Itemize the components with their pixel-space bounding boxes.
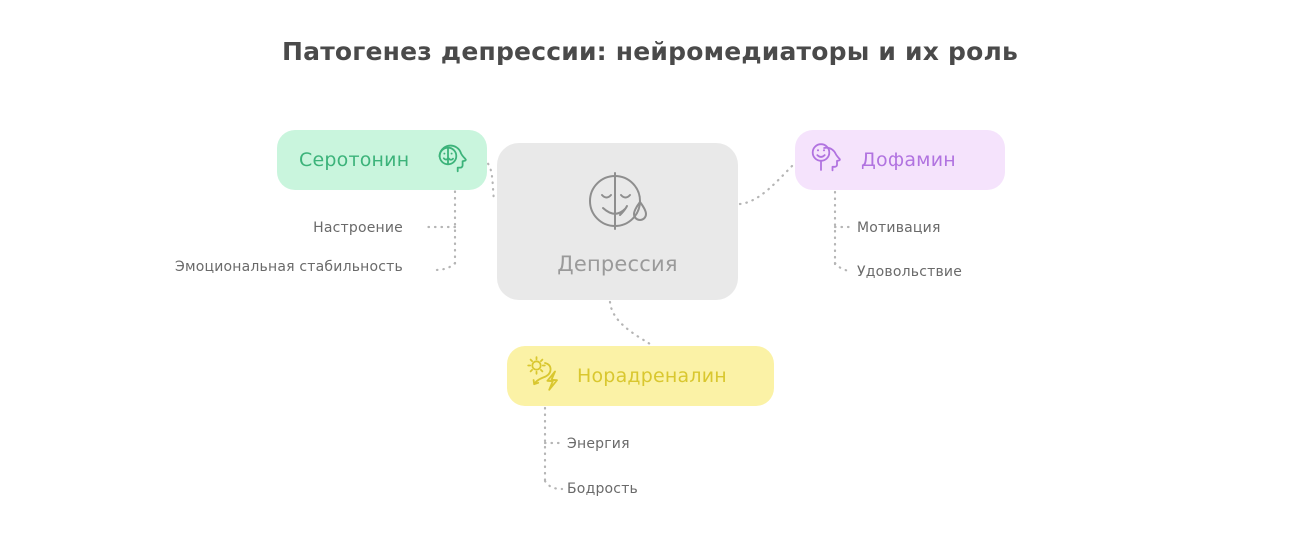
connector-noradrenaline-leaf-vigor: [545, 481, 562, 489]
split-face-sad-happy-icon: [582, 168, 654, 238]
node-serotonin-label: Серотонин: [299, 149, 409, 171]
node-dopamine-label: Дофамин: [861, 149, 956, 171]
smiley-head-profile-icon: [809, 140, 849, 180]
head-with-smiley-face-icon: [433, 140, 469, 180]
page-title: Патогенез депрессии: нейромедиаторы и их…: [0, 37, 1300, 66]
node-central-label: Депрессия: [557, 252, 677, 276]
leaf-dopamine-motivation: Мотивация: [857, 220, 941, 236]
leaf-serotonin-mood: Настроение: [313, 220, 403, 236]
node-dopamine[interactable]: Дофамин: [795, 130, 1005, 190]
connector-central-to-noradrenaline: [610, 302, 650, 344]
node-central-depression[interactable]: Депрессия: [497, 143, 738, 300]
connector-serotonin-leaf-emotional: [434, 263, 455, 270]
node-noradrenaline[interactable]: Норадреналин: [507, 346, 774, 406]
node-noradrenaline-label: Норадреналин: [577, 365, 727, 387]
connector-dopamine-leaf-pleasure: [835, 263, 852, 271]
leaf-noradrenaline-energy: Энергия: [567, 436, 630, 452]
leaf-dopamine-pleasure: Удовольствие: [857, 264, 962, 280]
leaf-noradrenaline-vigor: Бодрость: [567, 481, 638, 497]
node-serotonin[interactable]: Серотонин: [277, 130, 487, 190]
sun-lightning-bolt-icon: [523, 354, 565, 398]
connector-central-to-dopamine: [740, 163, 795, 204]
mindmap-canvas: Патогенез депрессии: нейромедиаторы и их…: [0, 0, 1300, 546]
leaf-serotonin-emotional-stability: Эмоциональная стабильность: [175, 259, 403, 275]
